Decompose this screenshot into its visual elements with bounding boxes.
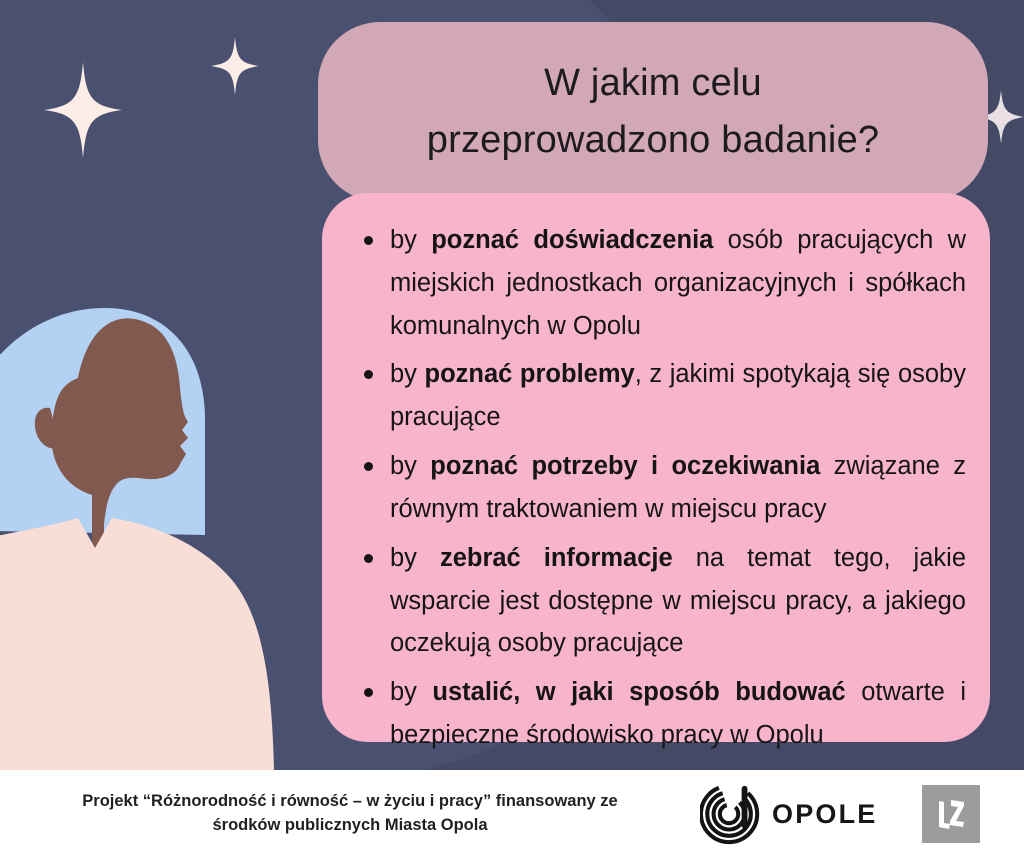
bullet-prefix-3: by	[390, 544, 440, 572]
header-title-line2: przeprowadzono badanie?	[427, 112, 880, 169]
list-item: by poznać potrzeby i oczekiwania związan…	[350, 445, 966, 531]
list-item: by poznać problemy, z jakimi spotykają s…	[350, 353, 966, 439]
bullet-bold-2: poznać potrzeby i oczekiwania	[430, 452, 820, 480]
shirt	[0, 518, 274, 770]
sparkle-icon-large	[44, 62, 122, 158]
opole-logo: OPOLE	[700, 783, 878, 845]
bullet-prefix-4: by	[390, 678, 432, 706]
opole-wordmark: OPOLE	[772, 799, 878, 830]
bullet-list: by poznać doświadczenia osób pracujących…	[350, 219, 966, 757]
footer-text-line2: środków publicznych Miasta Opola	[24, 814, 676, 838]
footer-funding-text: Projekt “Różnorodność i równość – w życi…	[0, 790, 700, 838]
opole-spiral-icon	[700, 783, 762, 845]
list-item: by zebrać informacje na temat tego, jaki…	[350, 537, 966, 665]
bullet-bold-0: poznać doświadczenia	[431, 226, 713, 254]
footer-bar: Projekt “Różnorodność i równość – w życi…	[0, 770, 1024, 858]
body-card: by poznać doświadczenia osób pracujących…	[322, 193, 990, 742]
bullet-prefix-0: by	[390, 226, 431, 254]
list-item: by poznać doświadczenia osób pracujących…	[350, 219, 966, 347]
lz-monogram-icon	[933, 796, 969, 832]
bullet-dot-icon	[364, 688, 373, 697]
bullet-bold-1: poznać problemy	[425, 360, 635, 388]
bullet-bold-3: zebrać informacje	[440, 544, 673, 572]
footer-logos: OPOLE	[700, 783, 1024, 845]
header-card: W jakim celu przeprowadzono badanie?	[318, 22, 988, 202]
poster-canvas: W jakim celu przeprowadzono badanie? by …	[0, 0, 1024, 858]
list-item: by ustalić, w jaki sposób budować otwart…	[350, 671, 966, 757]
lz-logo	[922, 785, 980, 843]
bullet-prefix-1: by	[390, 360, 425, 388]
sparkle-icon-small	[211, 37, 259, 95]
footer-text-line1: Projekt “Różnorodność i równość – w życi…	[24, 790, 676, 814]
bullet-bold-4: ustalić, w jaki sposób budować	[432, 678, 845, 706]
bullet-prefix-2: by	[390, 452, 430, 480]
woman-illustration	[0, 280, 330, 770]
bullet-dot-icon	[364, 370, 373, 379]
bullet-dot-icon	[364, 236, 373, 245]
header-title-line1: W jakim celu	[544, 55, 762, 112]
bullet-dot-icon	[364, 554, 373, 563]
bullet-dot-icon	[364, 462, 373, 471]
